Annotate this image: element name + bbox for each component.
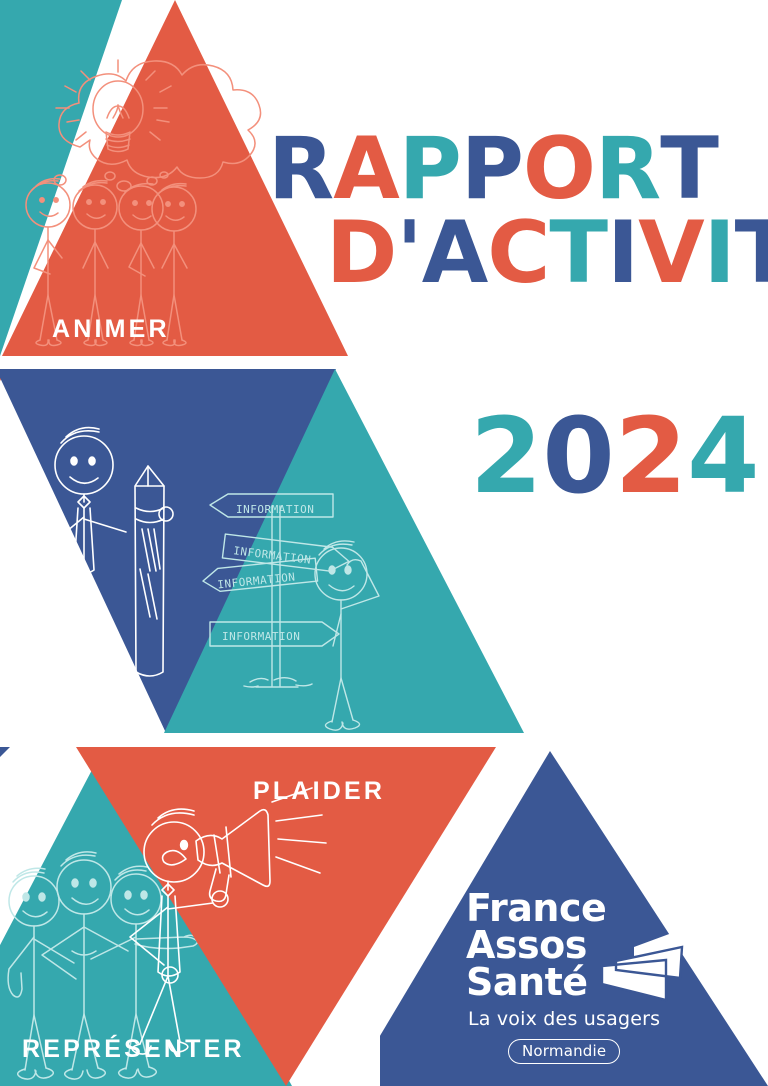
title-letter: T [549, 214, 607, 294]
title-line-rapport: RAPPORT [268, 130, 768, 210]
megaphone-icon [594, 920, 686, 1007]
title-letter: I [704, 214, 735, 294]
report-cover-page: ANIMER [0, 0, 768, 1086]
title-letter: C [487, 214, 549, 294]
title-letter: I [607, 214, 638, 294]
section-label-plaider: PLAIDER [253, 777, 385, 806]
year-digit: 2 [470, 404, 542, 508]
cover-year: 2024 [470, 404, 760, 508]
organisation-logo[interactable]: France Assos Santé La voix des usagers N… [466, 890, 696, 1064]
svg-text:INFORMATION: INFORMATION [236, 503, 314, 516]
title-letter: R [595, 130, 660, 210]
title-letter: T [735, 214, 768, 294]
title-letter: A [333, 130, 399, 210]
title-letter: A [422, 214, 488, 294]
cover-title: RAPPORT D'ACTIVITÉ [268, 130, 768, 294]
title-letter: R [268, 130, 333, 210]
year-digit: 4 [687, 404, 759, 508]
section-label-representer: REPRÉSENTER [22, 1035, 245, 1064]
section-label-animer: ANIMER [52, 315, 170, 344]
title-letter: P [399, 130, 461, 210]
year-digit: 0 [542, 404, 614, 508]
logo-region-badge: Normandie [508, 1039, 620, 1064]
title-letter: O [523, 130, 595, 210]
title-letter: ' [396, 214, 421, 294]
year-digit: 2 [615, 404, 687, 508]
title-letter: D [326, 214, 396, 294]
title-letter: V [638, 214, 704, 294]
svg-text:INFORMATION: INFORMATION [222, 630, 300, 643]
title-letter: T [660, 130, 718, 210]
title-line-activite: D'ACTIVITÉ [326, 214, 768, 294]
title-letter: P [461, 130, 523, 210]
logo-tagline: La voix des usagers [466, 1008, 696, 1030]
